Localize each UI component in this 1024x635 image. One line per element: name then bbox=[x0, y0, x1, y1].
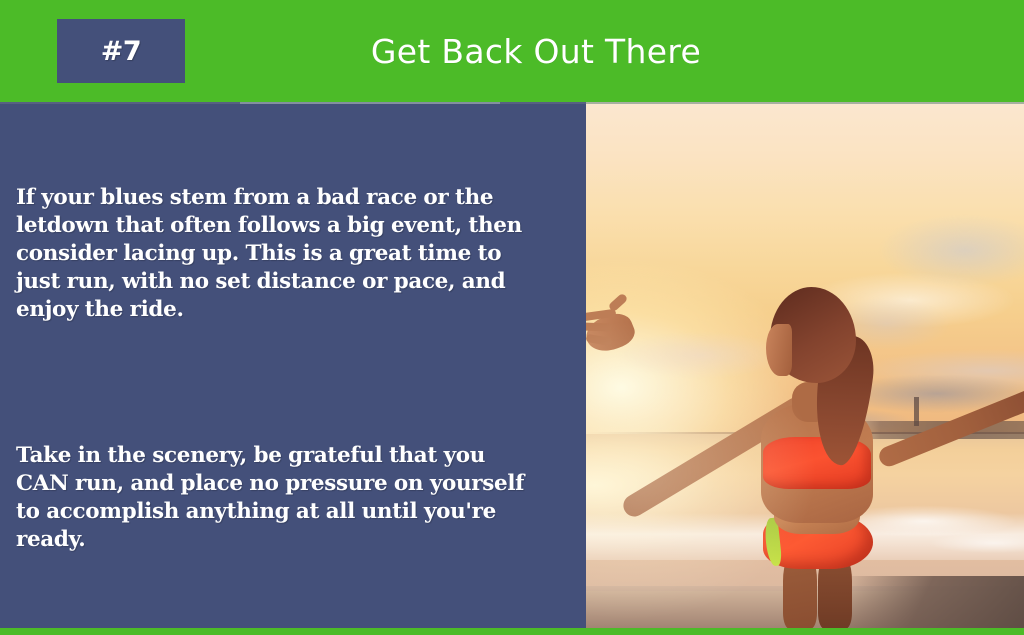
slide-number-label: #7 bbox=[101, 36, 141, 67]
slide-container: #7 Get Back Out There If your blues stem… bbox=[0, 0, 1024, 635]
page-title: Get Back Out There bbox=[245, 0, 827, 102]
face-profile bbox=[766, 324, 792, 376]
left-thumb bbox=[607, 292, 628, 312]
body-paragraph-2: Take in the scenery, be grateful that yo… bbox=[16, 442, 536, 554]
left-finger-2 bbox=[586, 323, 612, 332]
text-panel: If your blues stem from a bad race or th… bbox=[0, 104, 586, 628]
page-title-text: Get Back Out There bbox=[371, 32, 701, 71]
footer-band bbox=[0, 628, 1024, 635]
right-arm bbox=[877, 387, 1024, 469]
slide-number-badge: #7 bbox=[57, 19, 185, 83]
hero-photo bbox=[586, 104, 1024, 628]
beach-sunset-scene bbox=[586, 104, 1024, 628]
runner-figure bbox=[586, 104, 1024, 628]
body-paragraph-1: If your blues stem from a bad race or th… bbox=[16, 184, 536, 324]
header-seam-divider bbox=[0, 102, 1024, 104]
